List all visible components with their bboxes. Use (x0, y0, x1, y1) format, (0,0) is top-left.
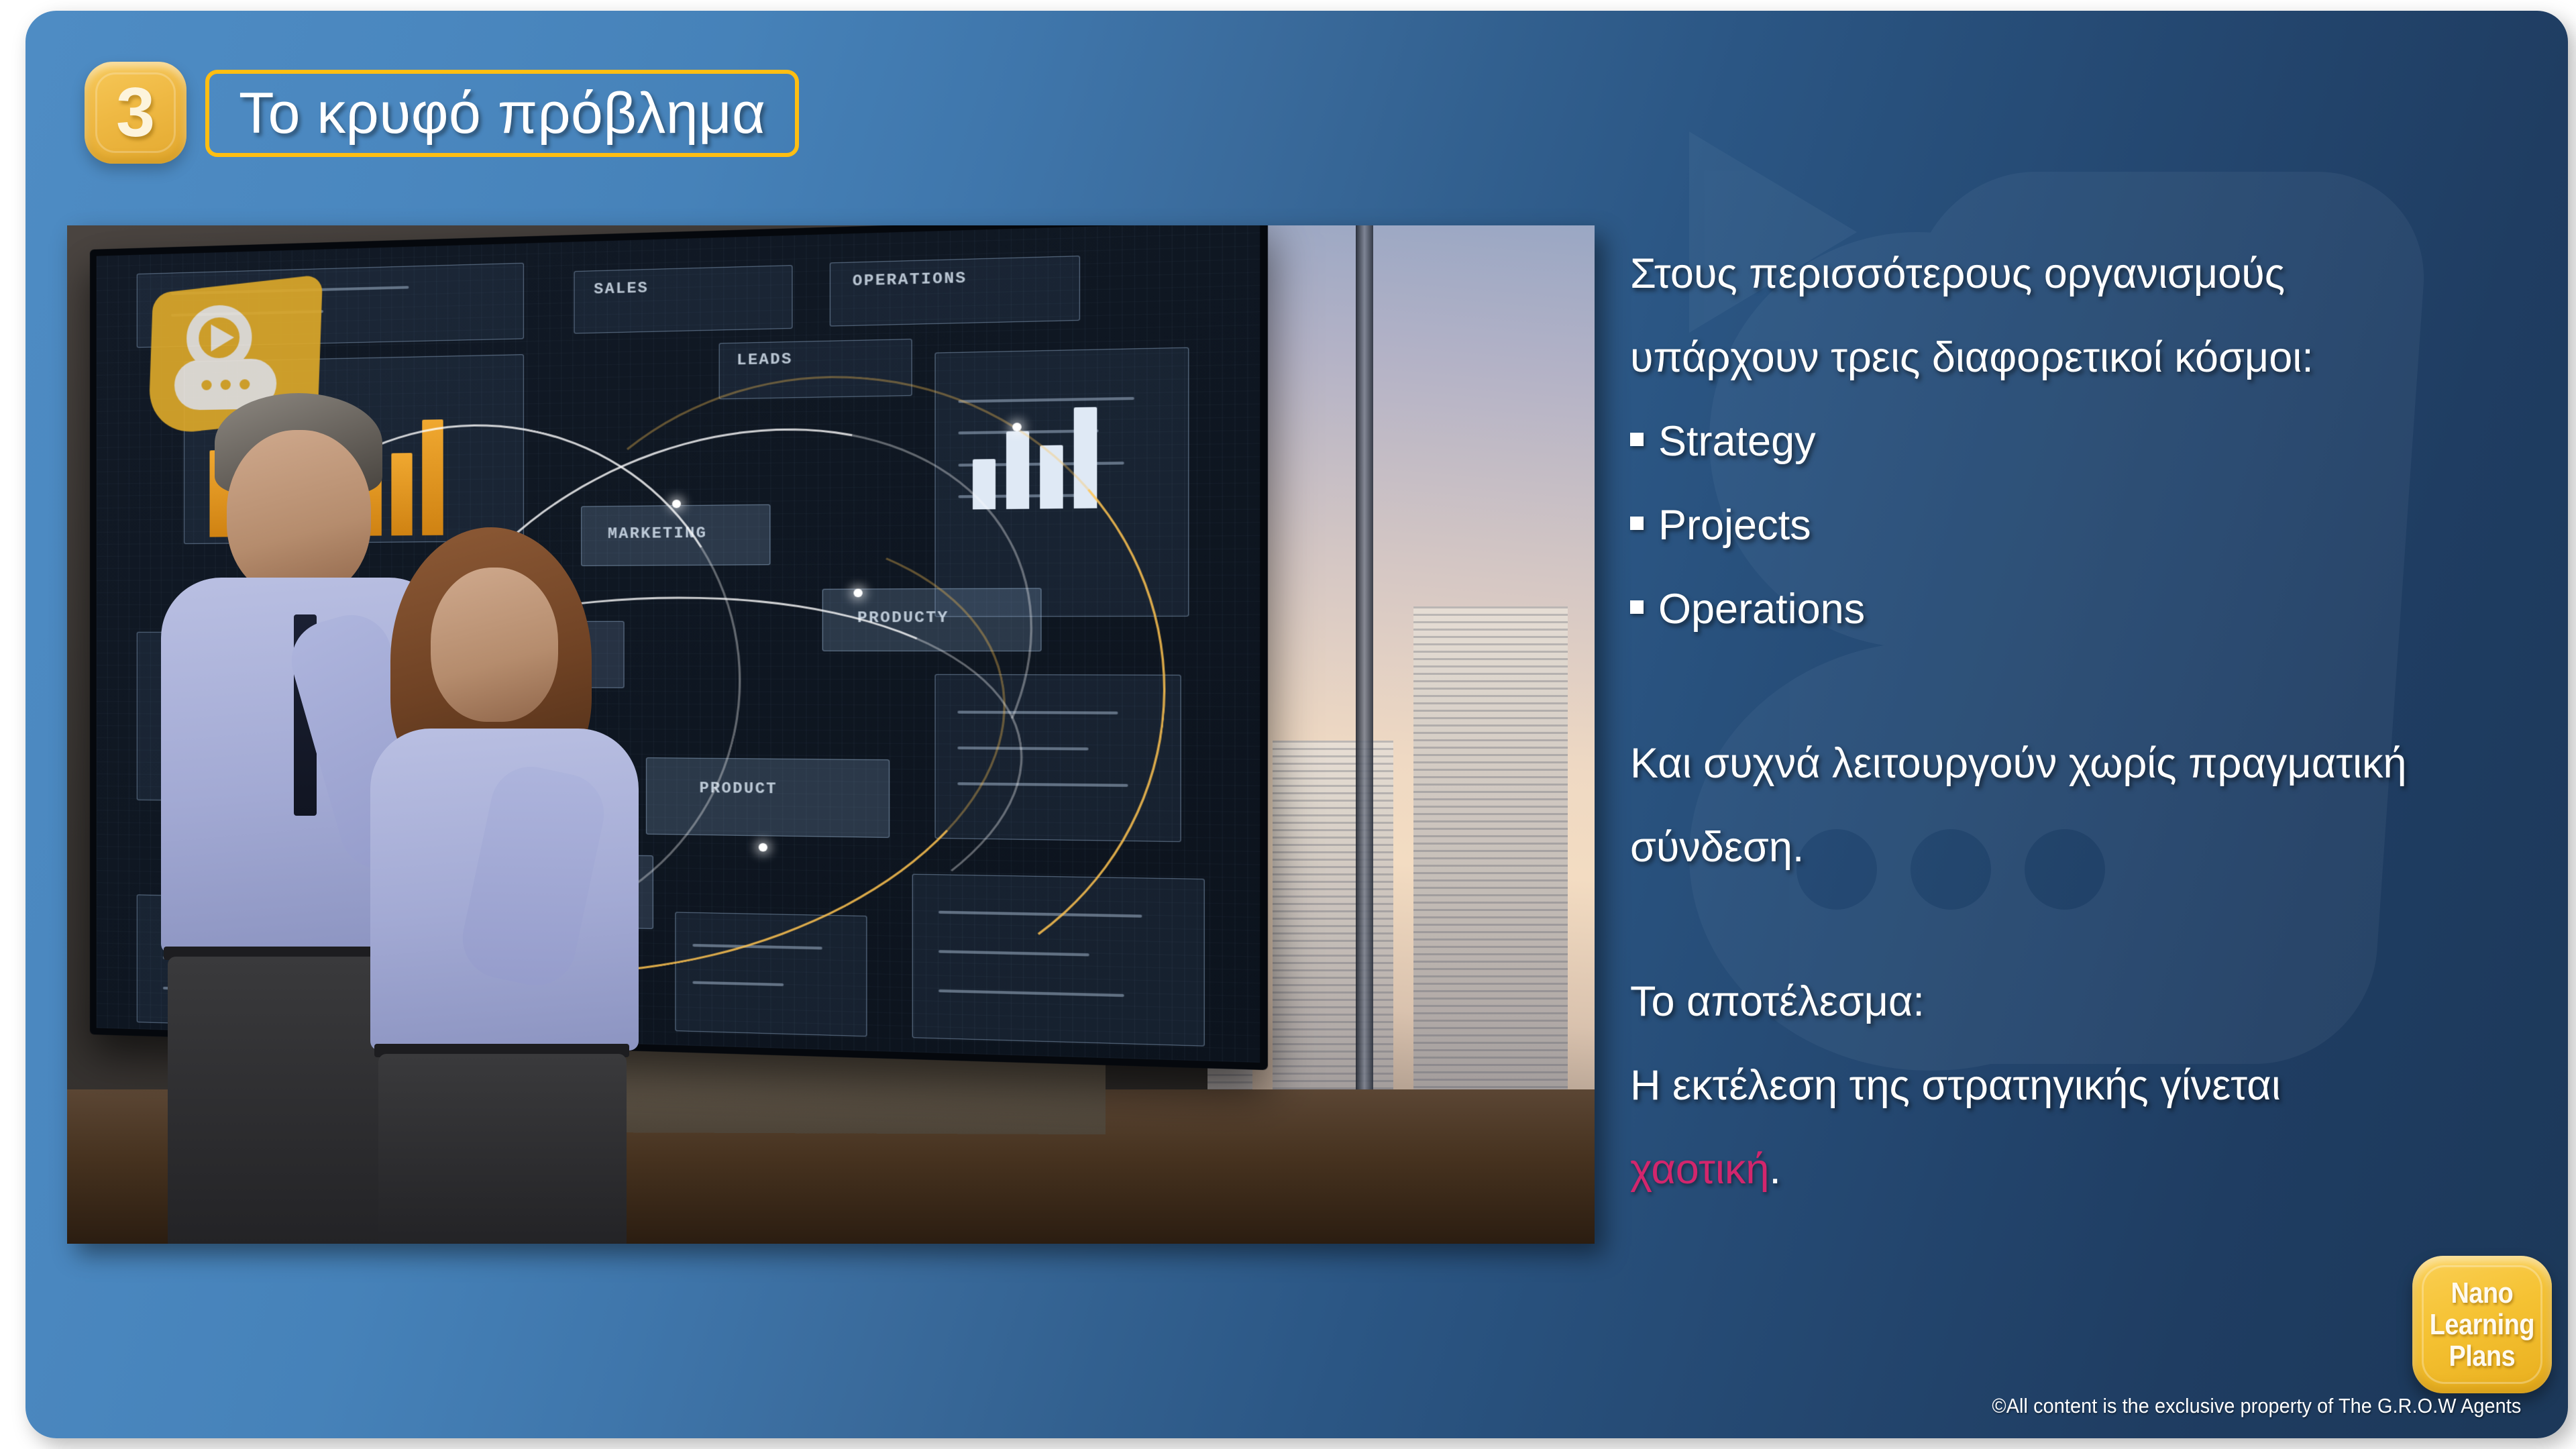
page-title: Το κρυφό πρόβλημα (239, 85, 765, 142)
bullet-square-icon (1630, 433, 1644, 446)
nlp-logo-line-3: Plans (2430, 1340, 2534, 1372)
para3-period: . (1769, 1146, 1781, 1193)
slide-number-badge: 3 (85, 62, 186, 164)
bullet-label-projects: Projects (1658, 484, 1811, 568)
bullet-label-strategy: Strategy (1658, 400, 1816, 484)
dashboard-label-sales: SALES (594, 280, 649, 299)
para2-line-2: σύνδεση. (1630, 806, 2568, 890)
bullet-item-strategy: Strategy (1630, 400, 2568, 484)
intro-line-1: Στους περισσότερους οργανισμούς (1630, 232, 2568, 316)
para2-line-1: Και συχνά λειτουργούν χωρίς πραγματική (1630, 722, 2568, 806)
para3-line-2: Η εκτέλεση της στρατηγικής γίνεται (1630, 1044, 2568, 1128)
intro-line-2: υπάρχουν τρεις διαφορετικοί κόσμοι: (1630, 316, 2568, 400)
bullet-square-icon (1630, 517, 1644, 530)
dashboard-card-operations-top: OPERATIONS (830, 256, 1080, 326)
dashboard-label-operations: OPERATIONS (853, 270, 967, 290)
dashboard-node-dot-4 (759, 843, 767, 852)
slide-number-value: 3 (116, 78, 155, 148)
nlp-logo-line-1: Nano (2430, 1277, 2534, 1309)
dashboard-node-dot-1 (672, 500, 681, 508)
dashboard-card-sales-top: SALES (574, 265, 792, 333)
paragraph-spacer-1 (1630, 651, 2568, 722)
man-head (227, 430, 371, 598)
highlight-chaotic: χαοτική (1630, 1146, 1769, 1193)
nano-learning-plans-logo: Nano Learning Plans (2412, 1256, 2552, 1393)
nlp-logo-line-2: Learning (2430, 1309, 2534, 1340)
woman-trousers (378, 1054, 627, 1244)
paragraph-spacer-2 (1630, 890, 2568, 960)
bullet-item-operations: Operations (1630, 568, 2568, 651)
bullet-square-icon (1630, 600, 1644, 614)
photo-skyscraper-right (1413, 606, 1568, 1116)
photo-person-woman (356, 527, 678, 1244)
photo-skyscraper-mid (1273, 741, 1393, 1116)
para3-line-1: Το αποτέλεσμα: (1630, 960, 2568, 1044)
slide-canvas: 3 Το κρυφό πρόβλημα (25, 11, 2568, 1438)
nlp-logo-text: Nano Learning Plans (2430, 1277, 2534, 1372)
bullet-item-projects: Projects (1630, 484, 2568, 568)
play-icon (211, 324, 234, 352)
para3-line-3: χαοτική. (1630, 1128, 2568, 1212)
copyright-notice: ©All content is the exclusive property o… (1992, 1394, 2521, 1418)
slide-title-box: Το κρυφό πρόβλημα (205, 70, 799, 157)
dashboard-label-leads: LEADS (737, 351, 793, 370)
woman-head (431, 568, 558, 722)
slide-photo: SALES OPERATIONS LEADS MARKETING (67, 225, 1595, 1244)
body-copy: Στους περισσότερους οργανισμούς υπάρχουν… (1630, 232, 2568, 1212)
bullet-label-operations: Operations (1658, 568, 1865, 651)
dashboard-node-dot-3 (853, 589, 862, 598)
